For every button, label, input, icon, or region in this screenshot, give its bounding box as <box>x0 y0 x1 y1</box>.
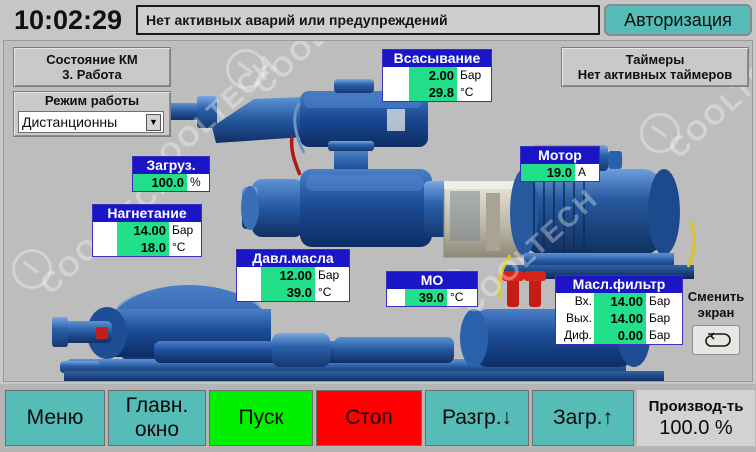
change-screen-label-line2: экран <box>676 305 753 321</box>
timers-panel: Таймеры Нет активных таймеров <box>561 47 749 87</box>
suction-pressure-row: 2.00 Бар <box>383 67 491 84</box>
oil-filter-outlet-value: 14.00 <box>594 310 646 327</box>
capacity-value: 100.0 % <box>659 416 732 440</box>
suction-temperature-pad <box>383 84 409 101</box>
load-button[interactable]: Загр.↑ <box>532 390 634 446</box>
suction-temperature-value: 29.8 <box>409 84 457 101</box>
chevron-down-icon[interactable]: ▼ <box>146 114 161 131</box>
motor-current-tag: Мотор 19.0 A <box>520 146 600 182</box>
motor-current-unit: A <box>575 164 599 181</box>
load-percent-row: 100.0 % <box>133 174 209 191</box>
alarm-status-bar: Нет активных аварий или предупреждений <box>136 5 600 35</box>
suction-temperature-unit: °C <box>457 84 491 101</box>
oil-filter-diff-label: Диф. <box>556 327 594 344</box>
load-percent-tag: Загруз. 100.0 % <box>132 156 210 192</box>
authorization-button[interactable]: Авторизация <box>604 4 752 36</box>
oil-separator-temp-title: МО <box>387 272 477 289</box>
oil-temperature-unit: °C <box>315 284 349 301</box>
unload-button[interactable]: Разгр.↓ <box>425 390 529 446</box>
oil-pressure-tag: Давл.масла 12.00 Бар 39.0 °C <box>236 249 350 302</box>
oil-filter-outlet-label: Вых. <box>556 310 594 327</box>
discharge-pressure-pad <box>93 222 117 239</box>
operation-mode-label: Режим работы <box>13 93 171 108</box>
load-percent-title: Загруз. <box>133 157 209 174</box>
discharge-pressure-row: 14.00 Бар <box>93 222 201 239</box>
suction-pressure-unit: Бар <box>457 67 491 84</box>
operation-mode-dropdown[interactable]: Дистанционны ▼ <box>18 111 164 133</box>
oil-filter-tag: Масл.фильтр Вх. 14.00 Бар Вых. 14.00 Бар… <box>555 275 683 345</box>
header-bar: 10:02:29 Нет активных аварий или предупр… <box>0 0 756 40</box>
main-window-label-line1: Главн. <box>126 394 189 418</box>
discharge-title: Нагнетание <box>93 205 201 222</box>
discharge-temperature-row: 18.0 °C <box>93 239 201 256</box>
compressor-state-value: 3. Работа <box>14 67 170 82</box>
change-screen-button[interactable] <box>692 325 740 355</box>
oil-filter-inlet-label: Вх. <box>556 293 594 310</box>
discharge-tag: Нагнетание 14.00 Бар 18.0 °C <box>92 204 202 257</box>
oil-filter-inlet-value: 14.00 <box>594 293 646 310</box>
oil-temperature-value: 39.0 <box>261 284 315 301</box>
suction-pressure-value: 2.00 <box>409 67 457 84</box>
suction-pressure-pad <box>383 67 409 84</box>
load-percent-unit: % <box>187 174 209 191</box>
discharge-pressure-value: 14.00 <box>117 222 169 239</box>
oil-pressure-pad <box>237 267 261 284</box>
oil-filter-inlet-row: Вх. 14.00 Бар <box>556 293 682 310</box>
oil-temperature-pad <box>237 284 261 301</box>
discharge-temperature-unit: °C <box>169 239 201 256</box>
oil-pressure-unit: Бар <box>315 267 349 284</box>
bottom-toolbar: Меню Главн. окно Пуск Стоп Разгр.↓ Загр.… <box>0 384 756 452</box>
oil-pressure-row: 12.00 Бар <box>237 267 349 284</box>
stop-button[interactable]: Стоп <box>316 390 422 446</box>
oil-separator-temp-tag: МО 39.0 °C <box>386 271 478 307</box>
timers-value: Нет активных таймеров <box>562 67 748 82</box>
alarm-status-text: Нет активных аварий или предупреждений <box>138 12 448 28</box>
oil-separator-temp-value: 39.0 <box>405 289 447 306</box>
oil-separator-temp-row: 39.0 °C <box>387 289 477 306</box>
oil-temperature-row: 39.0 °C <box>237 284 349 301</box>
main-window-button[interactable]: Главн. окно <box>108 390 206 446</box>
oil-filter-title: Масл.фильтр <box>556 276 682 293</box>
start-button[interactable]: Пуск <box>209 390 313 446</box>
motor-current-title: Мотор <box>521 147 599 164</box>
discharge-temperature-pad <box>93 239 117 256</box>
oil-filter-diff-row: Диф. 0.00 Бар <box>556 327 682 344</box>
compressor-state-panel: Состояние КМ 3. Работа <box>13 47 171 87</box>
hmi-screen: 10:02:29 Нет активных аварий или предупр… <box>0 0 756 452</box>
suction-title: Всасывание <box>383 50 491 67</box>
menu-button[interactable]: Меню <box>5 390 105 446</box>
process-graphic-area: COOLTECH COOLTECH COOLTECH COOLTECH COOL… <box>3 40 753 382</box>
main-window-label-line2: окно <box>135 418 179 442</box>
discharge-pressure-unit: Бар <box>169 222 201 239</box>
change-screen-label-line1: Сменить <box>676 289 753 305</box>
oil-pressure-title: Давл.масла <box>237 250 349 267</box>
suction-temperature-row: 29.8 °C <box>383 84 491 101</box>
capacity-display: Производ-ть 100.0 % <box>637 390 755 446</box>
oil-separator-temp-pad <box>387 289 405 306</box>
clock-display: 10:02:29 <box>2 3 134 37</box>
timers-title: Таймеры <box>562 52 748 67</box>
loop-return-icon <box>699 331 733 349</box>
discharge-temperature-value: 18.0 <box>117 239 169 256</box>
compressor-state-title: Состояние КМ <box>14 52 170 67</box>
load-percent-value: 100.0 <box>133 174 187 191</box>
motor-current-row: 19.0 A <box>521 164 599 181</box>
oil-pressure-value: 12.00 <box>261 267 315 284</box>
motor-current-value: 19.0 <box>521 164 575 181</box>
oil-filter-outlet-row: Вых. 14.00 Бар <box>556 310 682 327</box>
operation-mode-value: Дистанционны <box>19 114 117 130</box>
capacity-label: Производ-ть <box>649 397 744 416</box>
oil-separator-temp-unit: °C <box>447 289 477 306</box>
oil-filter-diff-value: 0.00 <box>594 327 646 344</box>
change-screen-control: Сменить экран <box>676 289 753 355</box>
suction-tag: Всасывание 2.00 Бар 29.8 °C <box>382 49 492 102</box>
